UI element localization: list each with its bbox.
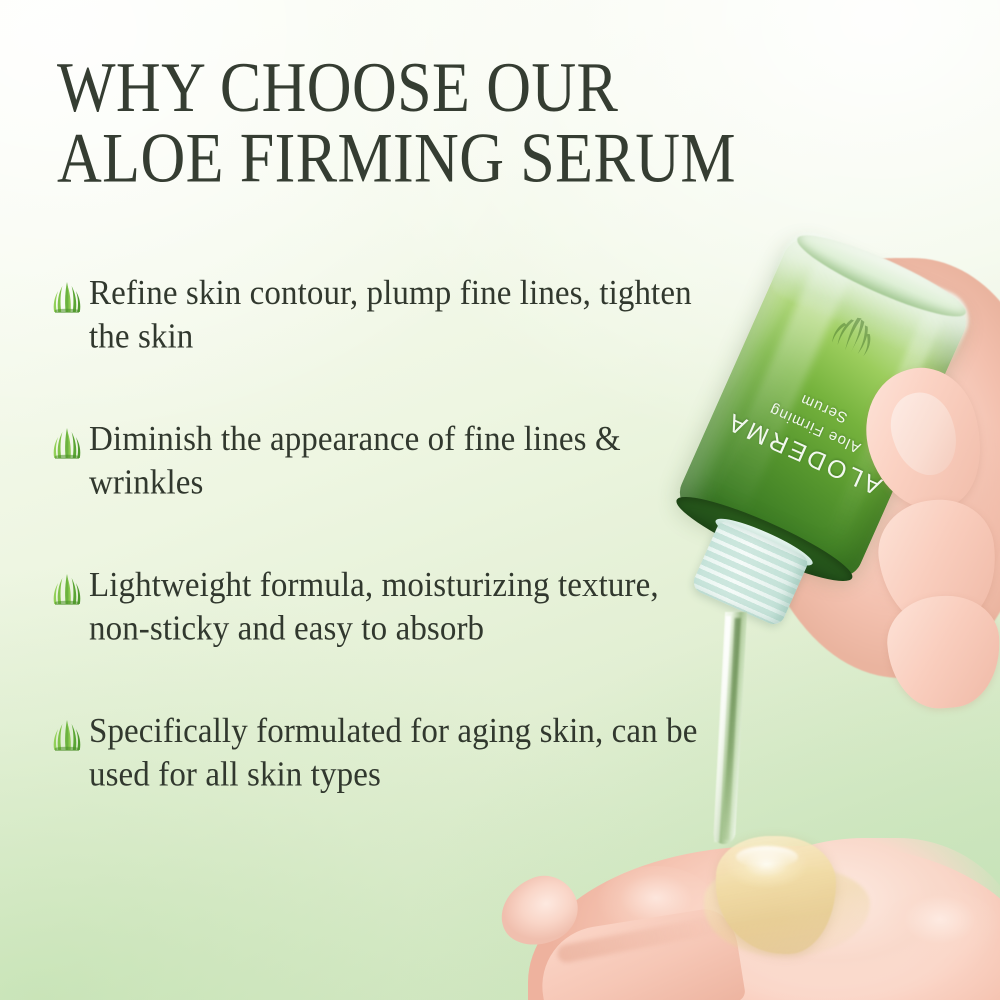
page-title-line-1: WHY CHOOSE OUR <box>57 54 847 122</box>
benefit-text-1: Refine skin contour, plump fine lines, t… <box>89 272 709 359</box>
benefits-list: Refine skin contour, plump fine lines, t… <box>52 272 712 792</box>
page-title: WHY CHOOSE OUR ALOE FIRMING SERUM <box>57 54 847 193</box>
benefit-item-3: Lightweight formula, moisturizing textur… <box>52 564 712 646</box>
benefit-item-1: Refine skin contour, plump fine lines, t… <box>52 272 712 354</box>
aloe-sprout-icon <box>52 426 82 460</box>
benefit-text-4: Specifically formulated for aging skin, … <box>89 710 709 797</box>
benefit-text-2: Diminish the appearance of fine lines & … <box>89 418 709 505</box>
page-title-line-2: ALOE FIRMING SERUM <box>57 125 847 193</box>
benefit-item-4: Specifically formulated for aging skin, … <box>52 710 712 792</box>
aloe-sprout-icon <box>52 718 82 752</box>
product-benefits-poster: ALODERMA Aloe Firming Serum <box>0 0 1000 1000</box>
aloe-sprout-icon <box>52 280 82 314</box>
benefit-text-3: Lightweight formula, moisturizing textur… <box>89 564 709 651</box>
benefit-item-2: Diminish the appearance of fine lines & … <box>52 418 712 500</box>
aloe-sprout-icon <box>52 572 82 606</box>
